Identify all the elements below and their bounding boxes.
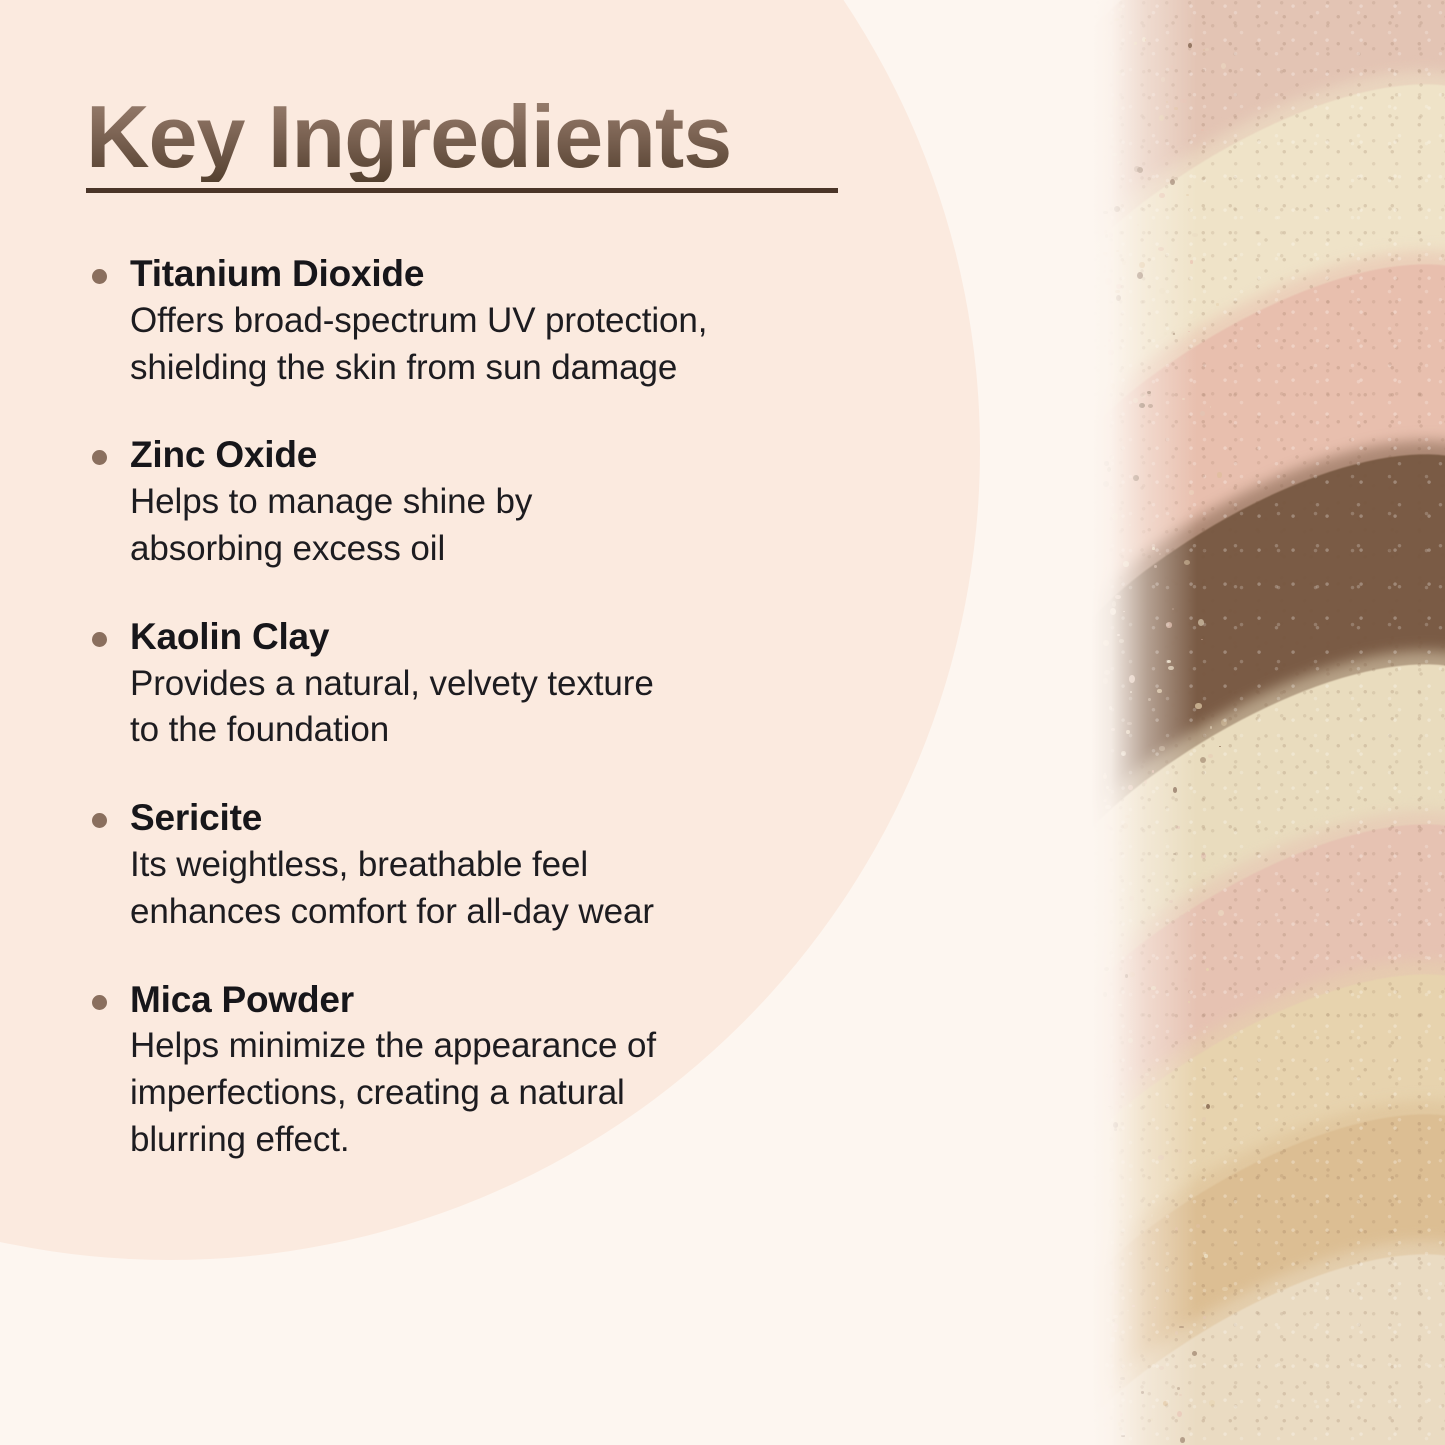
description-line: to the foundation (130, 707, 986, 754)
ingredient-description: Offers broad-spectrum UV protection,shie… (130, 298, 986, 392)
ingredient-item: Zinc OxideHelps to manage shine byabsorb… (86, 433, 986, 572)
bullet-icon (92, 450, 107, 465)
title-underline (86, 188, 838, 193)
ingredient-description: Provides a natural, velvety textureto th… (130, 661, 986, 755)
key-ingredients-infographic: Key Ingredients Titanium DioxideOffers b… (0, 0, 1445, 1445)
ingredient-item: Titanium DioxideOffers broad-spectrum UV… (86, 252, 986, 391)
powder-swatch-image (1085, 0, 1445, 1445)
bullet-icon (92, 813, 107, 828)
ingredient-name: Titanium Dioxide (130, 252, 986, 296)
ingredient-description: Helps to manage shine byabsorbing excess… (130, 479, 986, 573)
page-title-block: Key Ingredients (86, 92, 886, 193)
description-line: absorbing excess oil (130, 526, 986, 573)
ingredient-list: Titanium DioxideOffers broad-spectrum UV… (86, 252, 986, 1164)
ingredient-item: SericiteIts weightless, breathable feele… (86, 796, 986, 935)
page-title: Key Ingredients (86, 92, 731, 182)
bullet-icon (92, 632, 107, 647)
bullet-icon (92, 269, 107, 284)
ingredient-item: Mica PowderHelps minimize the appearance… (86, 978, 986, 1164)
bullet-icon (92, 995, 107, 1010)
ingredient-name: Mica Powder (130, 978, 986, 1022)
ingredient-name: Sericite (130, 796, 986, 840)
text-content-column: Key Ingredients Titanium DioxideOffers b… (0, 0, 1060, 1445)
ingredient-name: Zinc Oxide (130, 433, 986, 477)
ingredient-description: Helps minimize the appearance ofimperfec… (130, 1023, 986, 1164)
ingredient-item: Kaolin ClayProvides a natural, velvety t… (86, 615, 986, 754)
description-line: enhances comfort for all-day wear (130, 889, 986, 936)
ingredient-name: Kaolin Clay (130, 615, 986, 659)
description-line: blurring effect. (130, 1117, 986, 1164)
description-line: Offers broad-spectrum UV protection, (130, 298, 986, 345)
description-line: Provides a natural, velvety texture (130, 661, 986, 708)
description-line: Its weightless, breathable feel (130, 842, 986, 889)
description-line: imperfections, creating a natural (130, 1070, 986, 1117)
ingredient-description: Its weightless, breathable feelenhances … (130, 842, 986, 936)
description-line: Helps minimize the appearance of (130, 1023, 986, 1070)
description-line: Helps to manage shine by (130, 479, 986, 526)
description-line: shielding the skin from sun damage (130, 345, 986, 392)
